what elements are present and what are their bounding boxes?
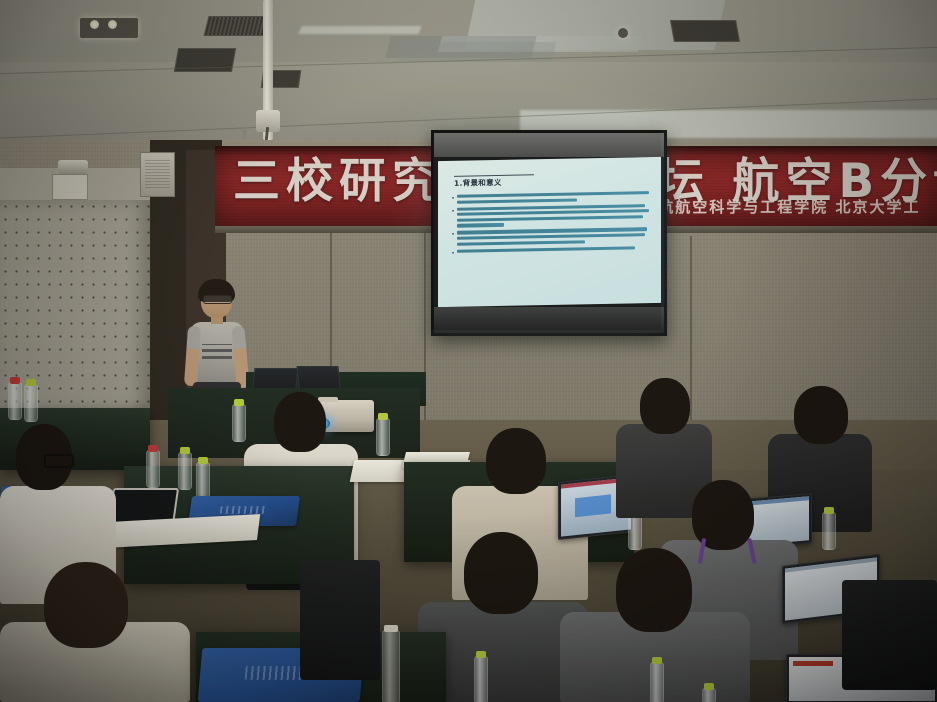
attendee-head <box>274 392 326 452</box>
attendee-head <box>44 562 128 648</box>
attendee-head <box>640 378 690 434</box>
bottle-cap <box>476 651 486 658</box>
slide-bullet: • <box>452 228 651 249</box>
glasses-icon <box>203 295 232 304</box>
slide-body: • • • <box>452 191 651 259</box>
chair <box>300 560 380 680</box>
water-bottle[interactable] <box>146 450 160 488</box>
bottle-cap <box>704 683 714 690</box>
bullet-icon: • <box>452 195 454 206</box>
attendee-head <box>616 548 692 632</box>
ceiling-light-strip <box>299 26 422 34</box>
water-bottle[interactable] <box>822 512 836 550</box>
bullet-text-lines <box>457 204 651 230</box>
chair <box>842 580 937 690</box>
perforated-acoustic-panel <box>0 200 150 432</box>
bottle-cap <box>148 445 158 452</box>
wall-speaker <box>140 152 175 197</box>
attendee-head <box>794 386 848 444</box>
bottle-cap <box>384 625 398 632</box>
water-bottle[interactable] <box>196 462 210 500</box>
water-bottle[interactable] <box>650 662 664 702</box>
bag-logo-icon <box>220 506 269 514</box>
bullet-text-lines <box>457 228 651 248</box>
slide-bullet: • <box>452 246 651 258</box>
wall-sign-plate <box>52 174 88 200</box>
screen-bottom-band <box>434 307 664 333</box>
screen-top-band <box>434 133 664 157</box>
bottle-cap <box>234 399 244 406</box>
bottle-cap <box>10 377 20 384</box>
bullet-text-lines <box>457 246 651 258</box>
bottle-cap <box>824 507 834 514</box>
laptop-titlebar <box>793 661 833 666</box>
water-bottle[interactable] <box>474 656 488 702</box>
slide-bullet: • <box>452 204 651 230</box>
conference-room-photo: 三校研究生学术论坛 航空B分论坛 院 北航航空科学与工程学院 北京大学工 1.背… <box>0 0 937 702</box>
bullet-icon: • <box>452 231 454 248</box>
ceiling-downlight <box>618 28 628 38</box>
presentation-slide: 1.背景和意义 • • <box>438 157 661 307</box>
projection-screen: 1.背景和意义 • • <box>431 130 667 336</box>
glasses-icon <box>44 454 74 468</box>
bottle-cap <box>180 447 190 454</box>
attendee-head <box>486 428 546 494</box>
bottle-cap <box>198 457 208 464</box>
bottle-cap <box>378 413 388 420</box>
bottle-cap <box>652 657 662 664</box>
ceiling-downlight <box>80 18 138 38</box>
attendee-head <box>464 532 538 614</box>
water-bottle[interactable] <box>178 452 192 490</box>
ceiling <box>0 0 937 146</box>
slide-title: 1.背景和意义 <box>454 177 502 189</box>
water-bottle[interactable] <box>8 382 22 420</box>
bullet-icon: • <box>452 207 454 229</box>
ceiling-camera-icon <box>58 160 88 174</box>
sports-bottle[interactable] <box>382 630 400 702</box>
attendee <box>0 562 190 702</box>
presenter-shirt-print <box>202 344 232 359</box>
water-bottle[interactable] <box>376 418 390 456</box>
bullet-icon: • <box>452 250 454 258</box>
water-bottle[interactable] <box>24 384 38 422</box>
water-bottle[interactable] <box>702 688 716 702</box>
bottle-cap <box>26 379 36 386</box>
ceiling-speaker-grill <box>670 20 740 42</box>
laptop-window <box>575 494 611 517</box>
